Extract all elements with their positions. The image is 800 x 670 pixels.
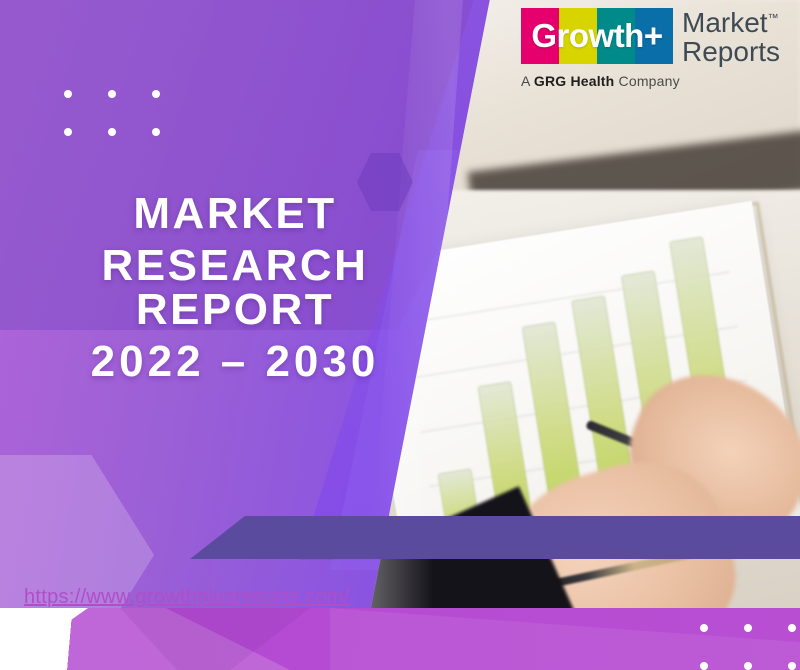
- report-cover: MARKET RESEARCH REPORT 2022 – 2030 Growt…: [0, 0, 800, 670]
- logo-tagline: A GRG Health Company: [521, 73, 791, 89]
- logo-wordmark: Growth+: [521, 8, 673, 64]
- logo-name-line-2: Reports: [682, 38, 780, 67]
- dot: [64, 90, 72, 98]
- cover-headline: MARKET RESEARCH REPORT 2022 – 2030: [0, 192, 470, 384]
- dot: [744, 662, 752, 670]
- logo-name-block: Market™ Reports: [682, 8, 780, 66]
- dot: [108, 128, 116, 136]
- dark-purple-band: [190, 516, 800, 559]
- dot: [152, 128, 160, 136]
- logo-color-mark: Growth+: [521, 8, 673, 64]
- logo-name-line-1: Market™: [682, 9, 780, 38]
- tagline-prefix: A: [521, 73, 534, 89]
- dot: [788, 662, 796, 670]
- logo-primary-row: Growth+ Market™ Reports: [521, 8, 791, 66]
- logo-market-text: Market: [682, 7, 768, 38]
- dot: [700, 624, 708, 632]
- website-url-link[interactable]: https://www.growthplusreports.com/: [24, 586, 350, 609]
- dot-grid-top-left: [64, 90, 162, 136]
- headline-line-1: MARKET: [0, 192, 470, 236]
- tagline-suffix: Company: [614, 73, 679, 89]
- dot: [744, 624, 752, 632]
- dot: [108, 90, 116, 98]
- dot: [152, 90, 160, 98]
- dot-grid-bottom-right: [700, 624, 798, 670]
- bottom-magenta-band: [0, 608, 800, 670]
- trademark-icon: ™: [768, 13, 779, 25]
- headline-line-3: 2022 – 2030: [0, 340, 470, 384]
- company-logo[interactable]: Growth+ Market™ Reports A GRG Health Com…: [521, 8, 791, 89]
- dot: [700, 662, 708, 670]
- dot: [64, 128, 72, 136]
- tagline-brand: GRG Health: [534, 73, 615, 89]
- headline-line-2: RESEARCH REPORT: [0, 244, 470, 332]
- dot: [788, 624, 796, 632]
